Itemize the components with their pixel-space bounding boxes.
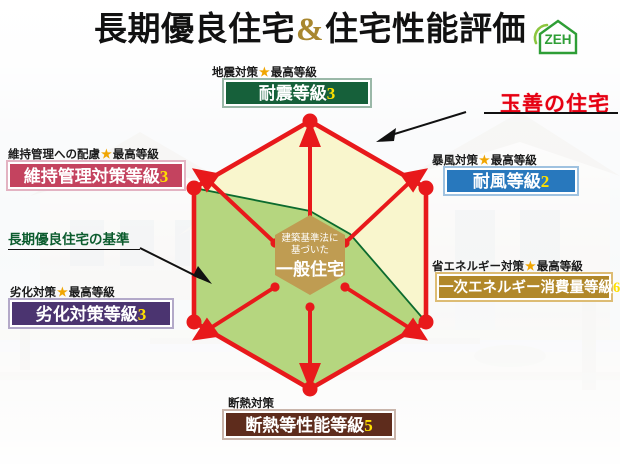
badge-insulation-text: 断熱等性能等級: [245, 416, 364, 435]
page-title: 長期優良住宅&住宅性能評価: [0, 8, 620, 52]
badge-degradation-text: 劣化対策等級: [36, 305, 138, 324]
page-title-main: 長期優良住宅: [94, 12, 295, 48]
badge-insulation-fill: 断熱等性能等級5: [226, 413, 392, 436]
badge-energy-grade: 6: [613, 280, 620, 296]
badge-maintenance-grade: 3: [160, 167, 169, 186]
company-house-rule: [484, 112, 618, 114]
svg-text:ZEH: ZEH: [545, 32, 572, 47]
badge-insulation-grade: 5: [364, 416, 373, 435]
center-line3: 一般住宅: [276, 259, 344, 279]
star-icon-energy: ★: [524, 259, 537, 273]
company-house-pointer-arrow: [358, 108, 468, 156]
badge-degradation-grade: 3: [138, 305, 147, 324]
star-icon-earthquake: ★: [258, 65, 271, 79]
star-icon-wind: ★: [478, 153, 491, 167]
star-icon-maintenance: ★: [100, 147, 113, 161]
badge-earthquake-fill: 耐震等級3: [226, 82, 368, 104]
badge-wind[interactable]: 耐風等級2: [443, 166, 579, 196]
page-title-sub: 住宅性能評価: [325, 12, 526, 48]
badge-earthquake[interactable]: 耐震等級3: [222, 78, 372, 108]
star-icon-degradation: ★: [56, 285, 69, 299]
infographic-root: 長期優良住宅&住宅性能評価 ZEH: [0, 0, 620, 464]
standard-label: 長期優良住宅の基準: [8, 228, 130, 248]
badge-energy[interactable]: 一次エネルギー消費量等級6: [435, 272, 613, 302]
badge-energy-text: 一次エネルギー消費量等級: [439, 280, 613, 296]
badge-maintenance-fill: 維持管理対策等級3: [10, 164, 182, 187]
page-title-ampersand: &: [295, 12, 325, 48]
center-line2: 基づいた: [291, 244, 329, 256]
badge-energy-fill: 一次エネルギー消費量等級6: [439, 276, 609, 298]
badge-maintenance[interactable]: 維持管理対策等級3: [6, 160, 186, 191]
badge-wind-fill: 耐風等級2: [447, 170, 575, 192]
star-icon-insulation: [274, 396, 276, 410]
standard-pointer-arrow: [138, 246, 218, 288]
header: 長期優良住宅&住宅性能評価 ZEH: [0, 8, 620, 54]
badge-degradation[interactable]: 劣化対策等級3: [8, 298, 174, 329]
badge-wind-grade: 2: [541, 172, 550, 191]
badge-maintenance-text: 維持管理対策等級: [24, 167, 160, 186]
zeh-logo: ZEH: [530, 17, 586, 57]
badge-earthquake-text: 耐震等級: [259, 84, 327, 103]
badge-insulation[interactable]: 断熱等性能等級5: [222, 409, 396, 440]
badge-earthquake-grade: 3: [327, 84, 336, 103]
standard-rule: [8, 249, 140, 250]
zeh-house-icon: ZEH: [530, 17, 586, 57]
center-line1: 建築基準法に: [281, 232, 338, 244]
badge-degradation-fill: 劣化対策等級3: [12, 302, 170, 325]
badge-wind-text: 耐風等級: [473, 172, 541, 191]
